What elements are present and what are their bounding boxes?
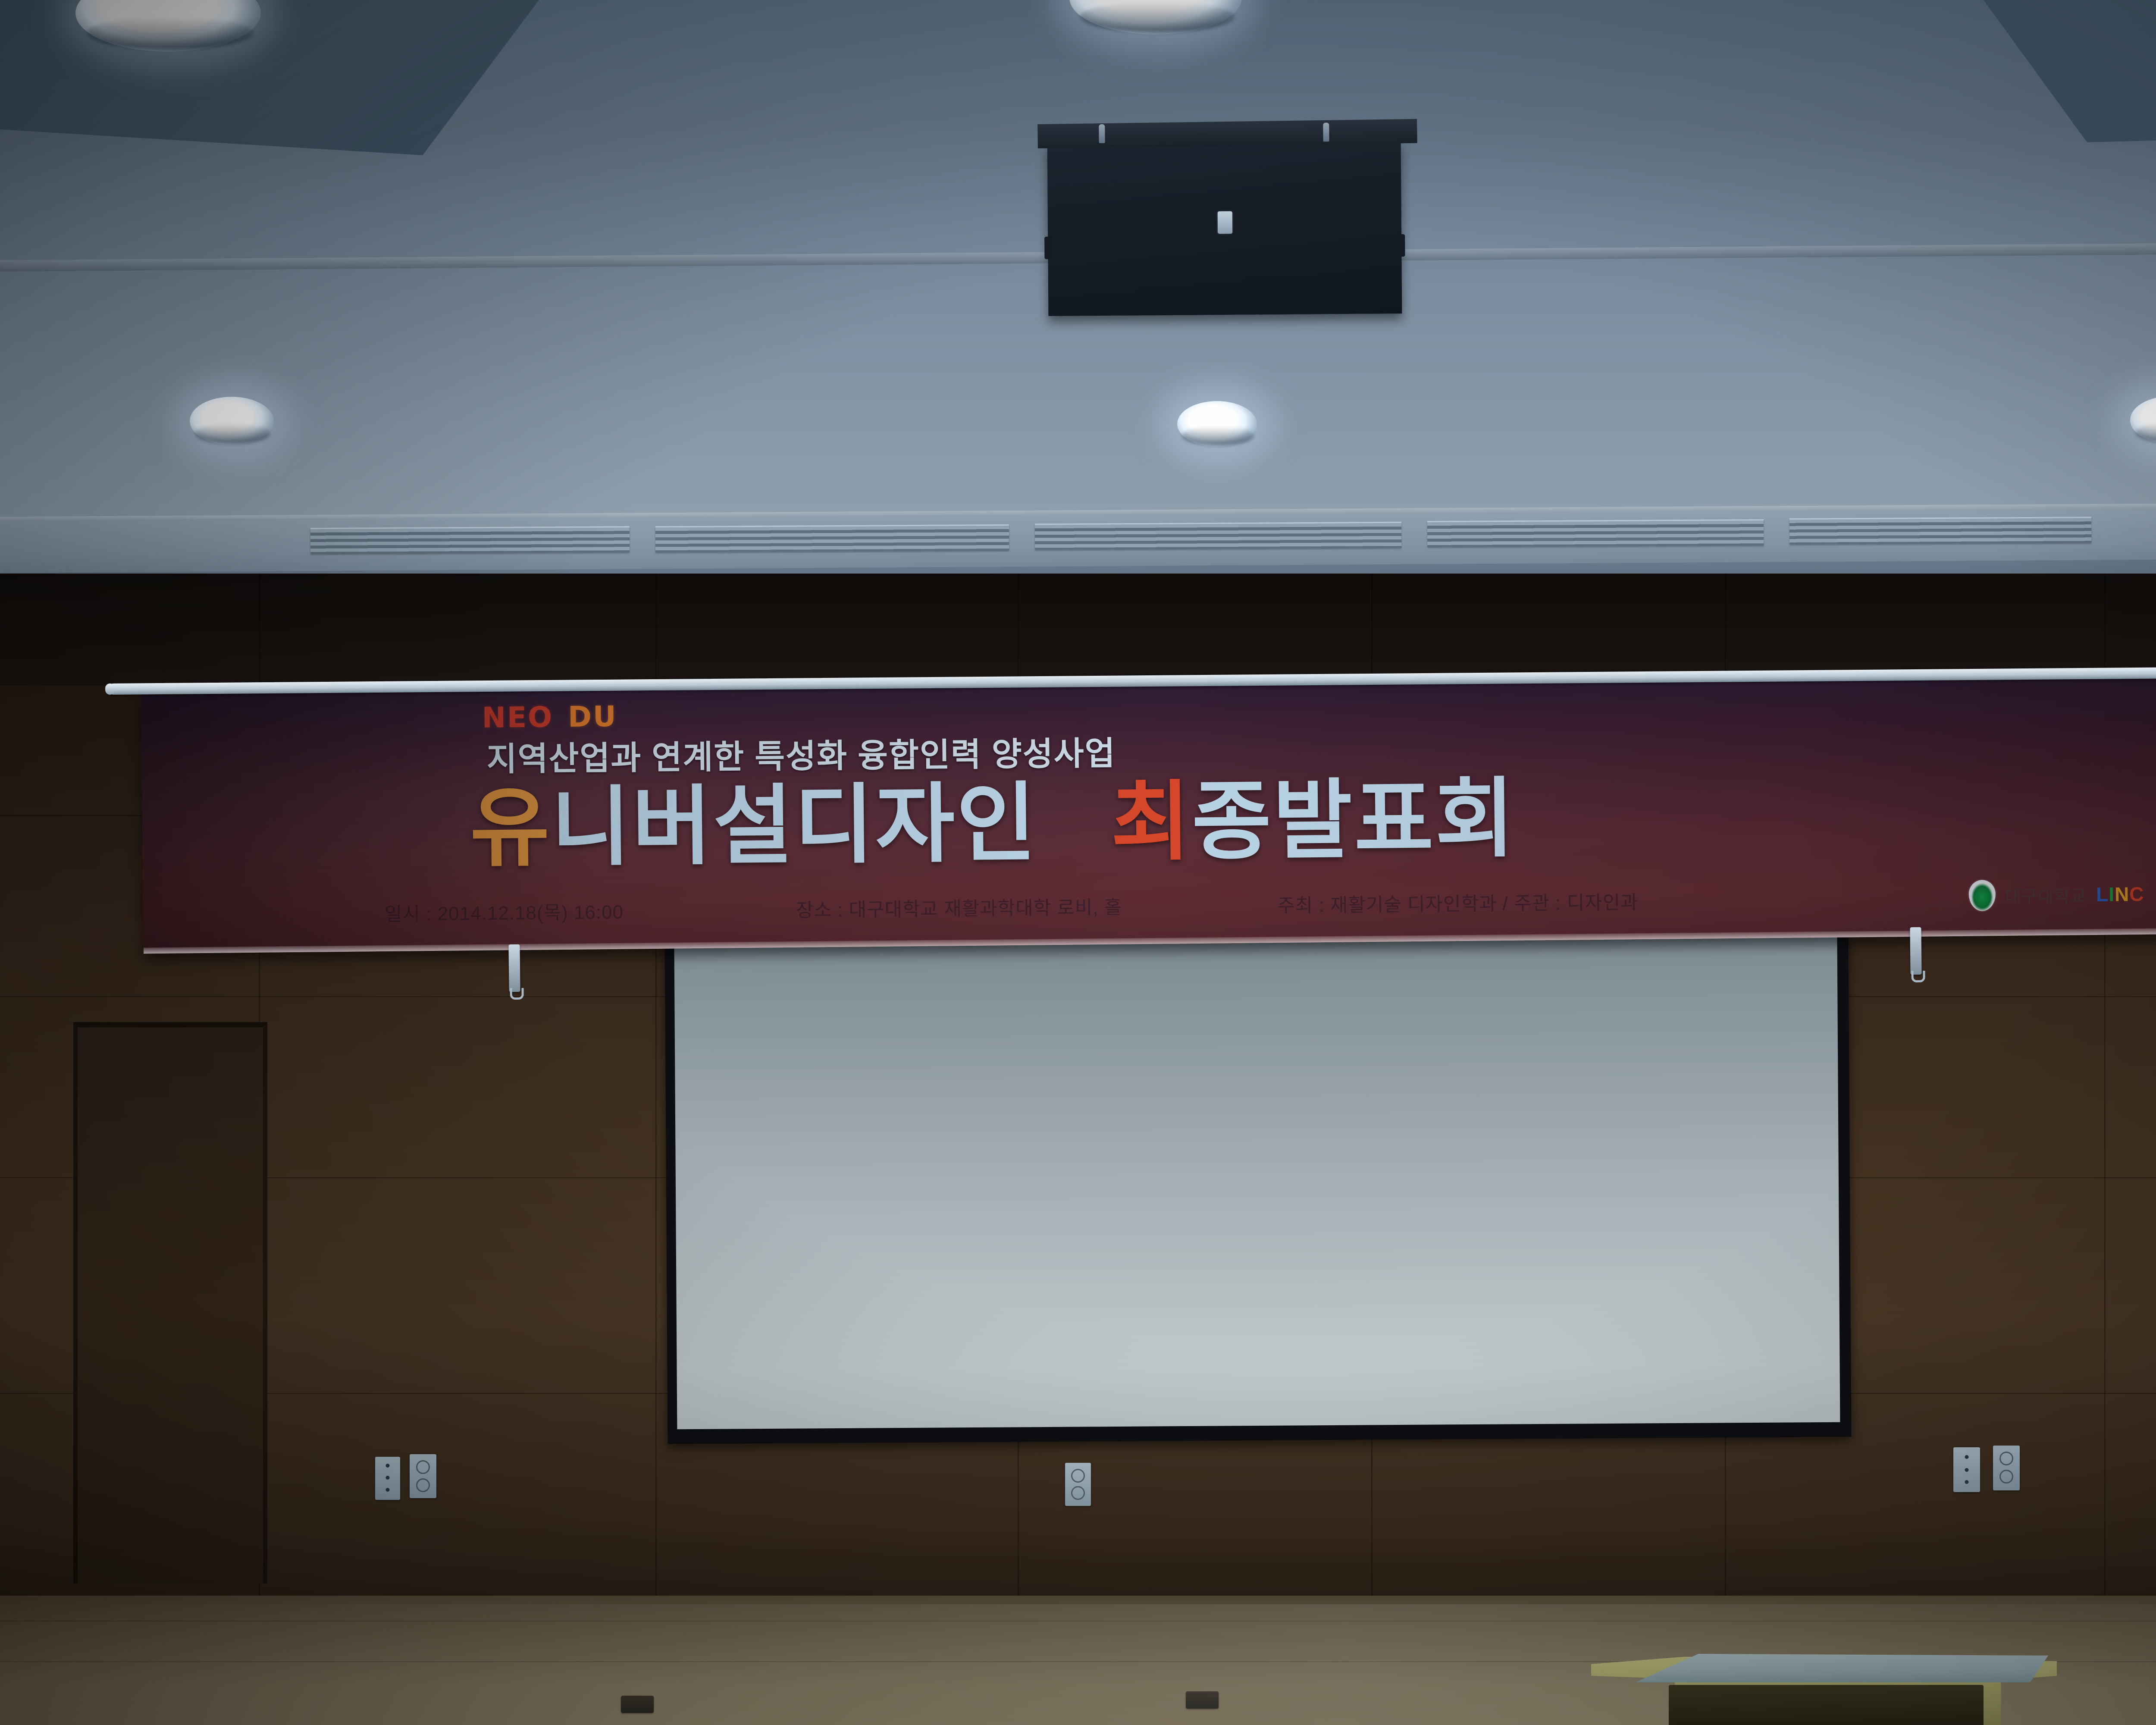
wall-outlet-right-a[interactable] [1953,1447,1980,1492]
podium-front-panel [1669,1685,1984,1725]
banner-info-datetime: 일시 : 2014.12.18(목) 16:00 [385,897,624,926]
wall-shadow-band [0,574,2156,686]
ceiling-speaker [1047,141,1402,316]
ceiling-vent-5 [1789,517,2091,545]
podium-top-surface [1600,1654,2048,1682]
outlet-socket-bottom-icon [1999,1470,2013,1483]
wall-outlet-center[interactable] [1065,1463,1091,1506]
daegu-university-name: 대구대학교 [2005,882,2087,908]
rail-cap-left [105,684,115,695]
speaker-brand-badge [1217,211,1232,234]
banner-title-accent-choi: 최 [1110,774,1192,871]
ceiling-vent-1 [310,526,630,554]
wall-outlet-left[interactable] [410,1454,436,1498]
speaker-side-bracket-right [1397,234,1405,257]
jack-2-icon [386,1476,390,1480]
banner-title-main-left: 니버설디자인 [551,775,1038,876]
ceiling-vent-2 [655,524,1009,552]
event-banner: NEODU 지역산업과 연계한 특성화 융합인력 양성사업 유니버설디자인최종발… [141,675,2156,954]
banner-title-spacer [1038,852,1111,853]
jack-1-icon [386,1464,390,1468]
auditorium-scene: NEODU 지역산업과 연계한 특성화 융합인력 양성사업 유니버설디자인최종발… [0,0,2156,1725]
outlet-socket-top-icon [1071,1469,1085,1483]
banner-info-organizer: 주최 : 재활기술 디자인학과 / 주관 : 디자인과 [1277,887,1639,918]
wooden-podium[interactable] [1591,1654,2057,1725]
downlight-row2-center [1177,401,1257,447]
floor-box-right[interactable] [1186,1691,1219,1709]
jack-2-icon [1965,1468,1969,1472]
banner-title-accent-yu: 유 [470,780,552,877]
banner-logo-row: 대구대학교 LINC 사업단 [1969,878,2156,911]
downlight-top-center [1069,0,1242,34]
wall-data-plate-left[interactable] [375,1457,400,1500]
screen-surface [674,932,1840,1429]
linc-logo: LINC [2096,882,2144,906]
jack-3-icon [386,1488,390,1492]
stage-left-door[interactable] [73,1022,267,1584]
banner-info-location: 장소 : 대구대학교 재활과학대학 로비, 홀 [796,892,1122,922]
banner-tie-right [1910,927,1921,975]
jack-1-icon [1965,1455,1969,1459]
neo-du-logo: NEODU [482,700,617,734]
speaker-hanger-left [1099,124,1105,143]
outlet-socket-top-icon [1999,1452,2013,1465]
outlet-socket-top-icon [416,1460,430,1474]
downlight-row2-right [2130,396,2156,444]
projection-screen [664,928,1851,1444]
du-logo-text: DU [568,700,617,734]
ceiling-soffit-right [1984,0,2156,142]
speaker-mount-plate [1037,119,1417,148]
banner-title: 유니버설디자인최종발표회 [470,776,1517,872]
ceiling-vent-3 [1035,522,1401,550]
floor-box-left[interactable] [621,1696,654,1713]
speaker-side-bracket-left [1044,237,1052,259]
speaker-hanger-right [1323,122,1329,141]
banner-title-main-right: 종발표회 [1191,771,1517,870]
wall-outlet-right-b[interactable] [1993,1446,2020,1490]
floor-seam-1 [0,1621,2156,1621]
ceiling [0,0,2156,574]
outlet-socket-bottom-icon [416,1478,430,1492]
ceiling-vent-4 [1427,519,1764,547]
jack-3-icon [1965,1480,1969,1484]
banner-info-row: 일시 : 2014.12.18(목) 16:00 장소 : 대구대학교 재활과학… [143,881,2156,929]
banner-subtitle: 지역산업과 연계한 특성화 융합인력 양성사업 [486,727,1116,780]
neo-logo-text: NEO [482,700,553,734]
outlet-socket-bottom-icon [1071,1486,1085,1500]
downlight-row2-left [190,397,274,445]
banner-tie-left [508,944,520,992]
daegu-university-emblem-icon [1969,880,1996,911]
